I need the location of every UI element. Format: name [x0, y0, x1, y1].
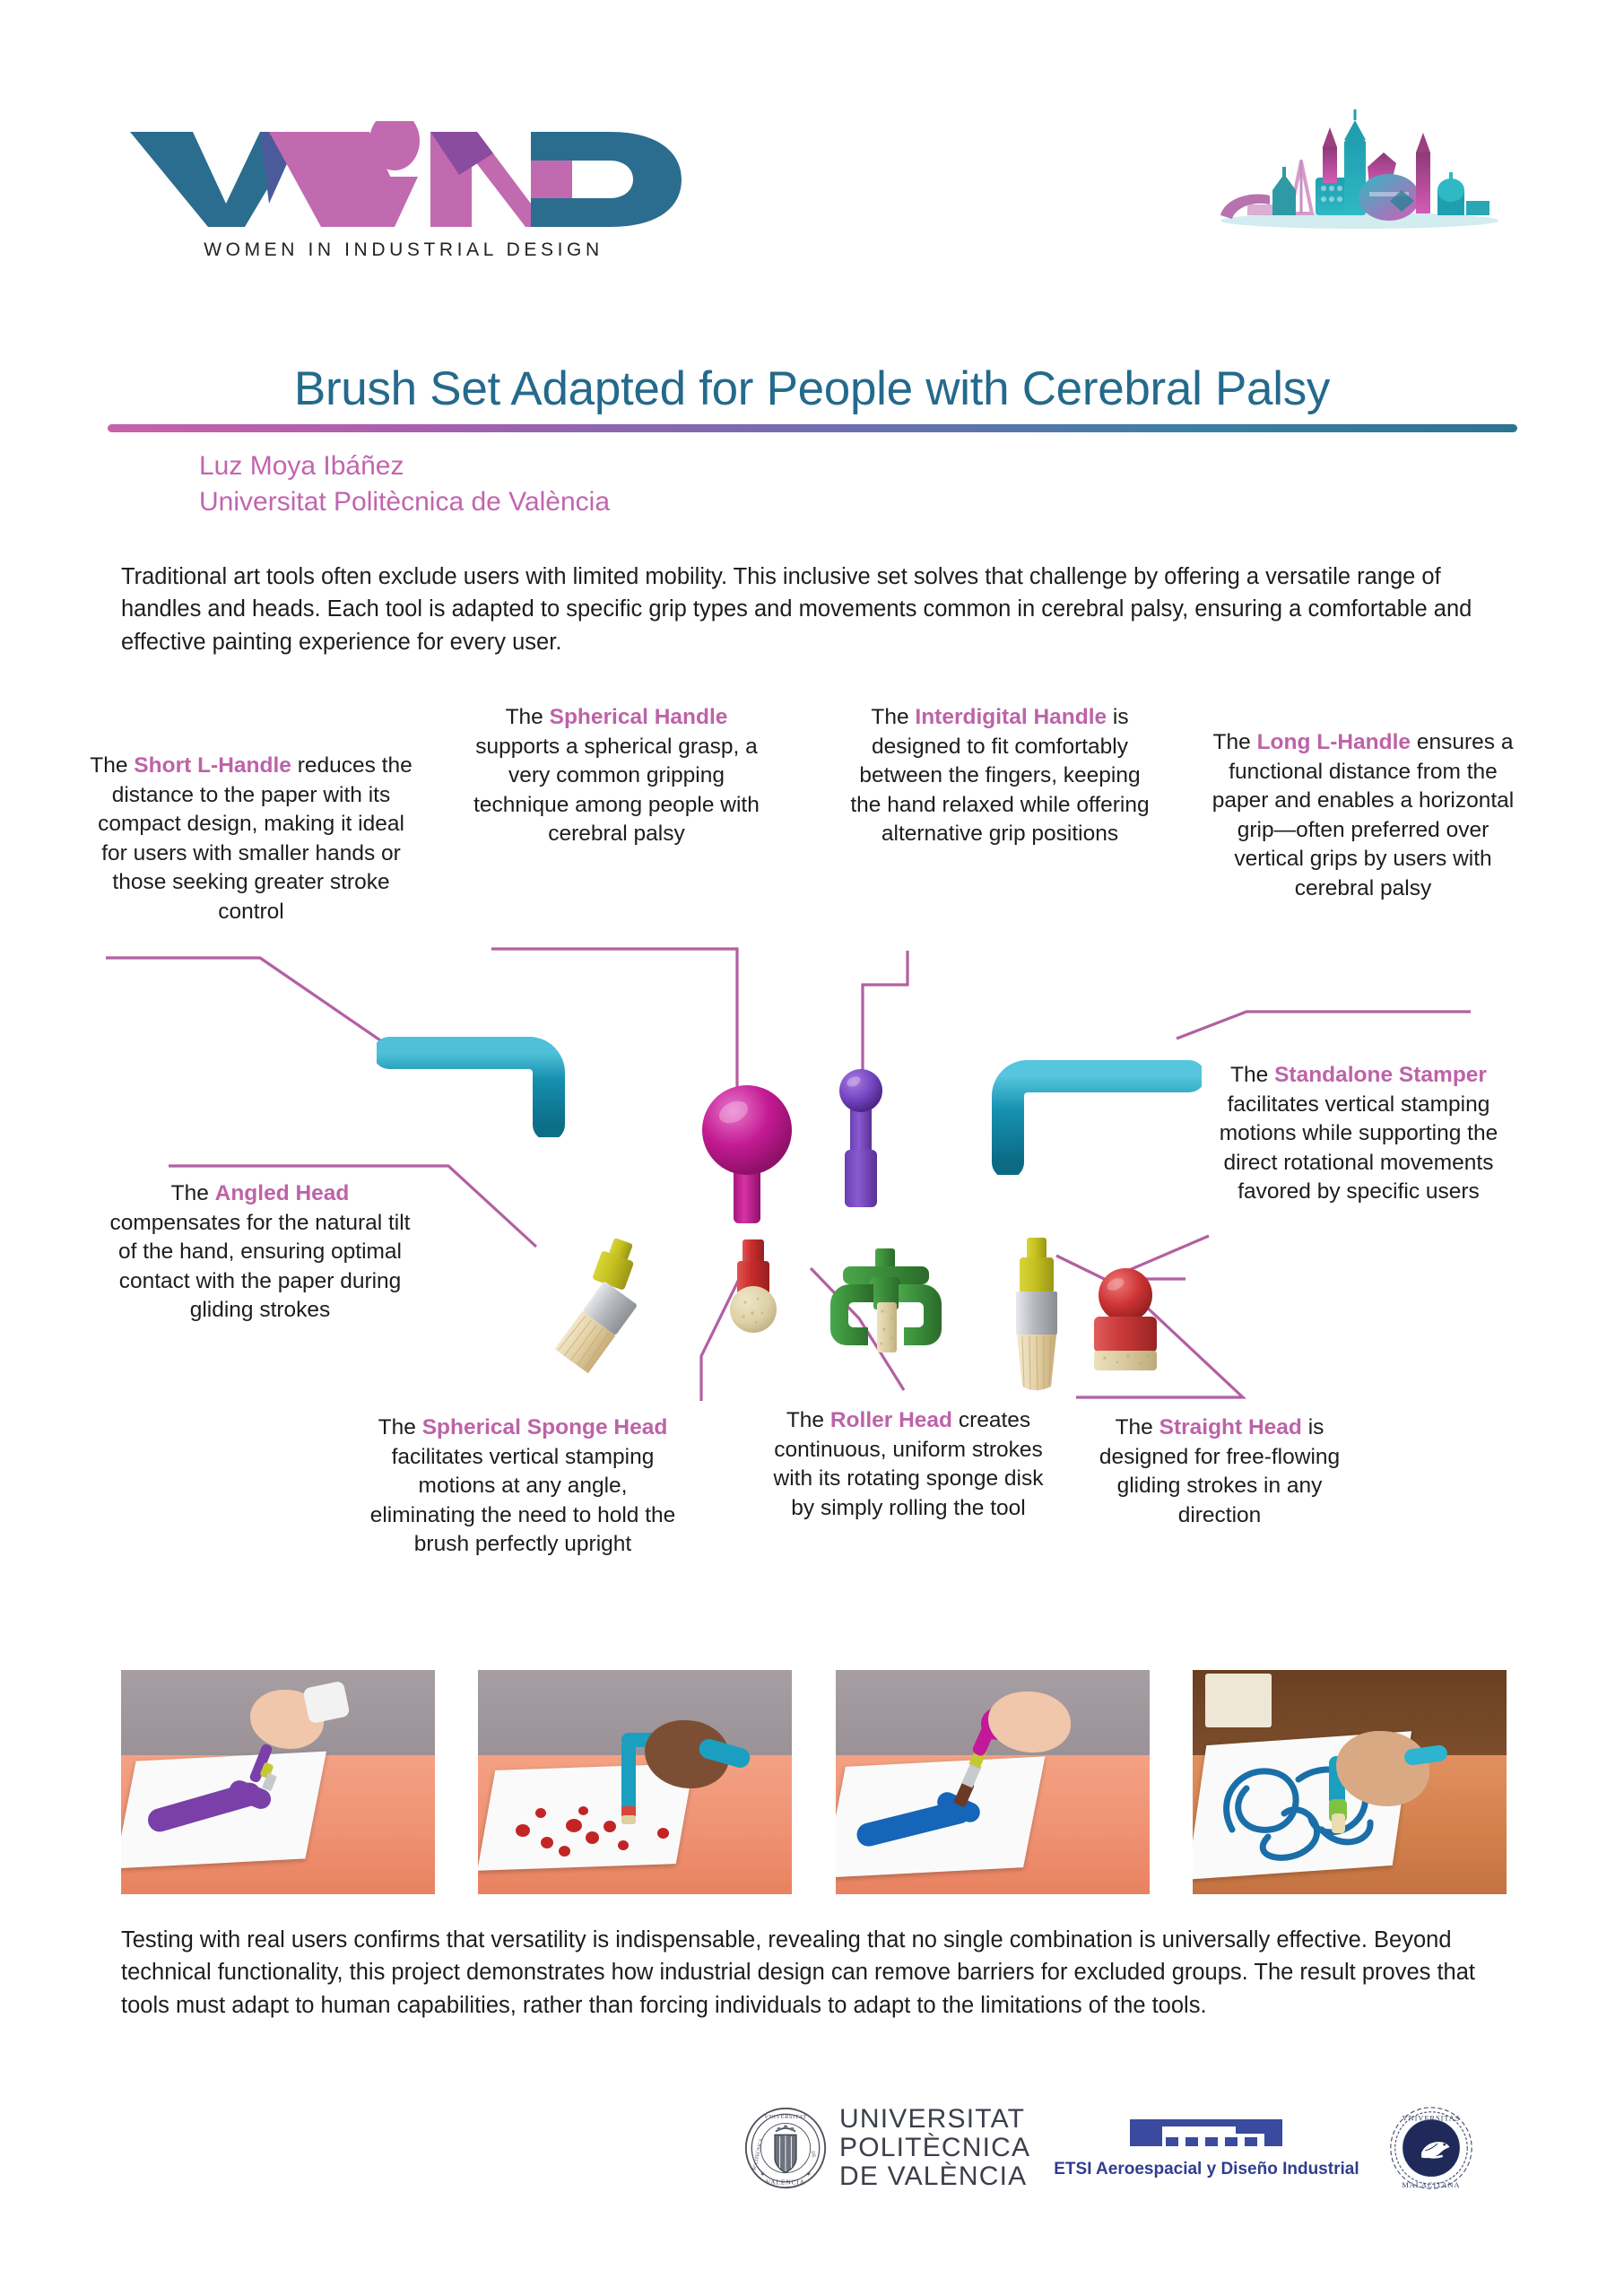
photo-tool-sponge	[621, 1815, 636, 1824]
caption-lead: The	[1230, 1063, 1274, 1087]
upv-line-2: POLITÈCNICA	[839, 2134, 1030, 2162]
figure-area: The Short L-Handle reduces the distance …	[0, 691, 1624, 1641]
caption-roller-head: The Roller Head creates continuous, unif…	[769, 1406, 1047, 1523]
intro-paragraph: Traditional art tools often exclude user…	[121, 561, 1507, 658]
svg-text:VNIVERSITAS: VNIVERSITAS	[1402, 2115, 1460, 2123]
wind-tagline: WOMEN IN INDUSTRIAL DESIGN	[126, 239, 682, 261]
caption-term: Angled Head	[215, 1181, 350, 1205]
caption-term: Spherical Handle	[550, 705, 728, 729]
caption-lead: The	[90, 753, 134, 778]
photo-blue-stroke	[836, 1670, 1150, 1894]
svg-text:DE: DE	[810, 2151, 817, 2159]
etsi-building-icon	[1130, 2118, 1282, 2155]
etsi-logo: ETSI Aeroespacial y Diseño Industrial	[1054, 2118, 1359, 2179]
spherical-handle-render	[698, 1083, 796, 1227]
caption-standalone-stamper: The Standalone Stamper facilitates verti…	[1193, 1061, 1524, 1207]
wind-wordmark-icon	[126, 121, 682, 229]
caption-term: Short L-Handle	[134, 753, 291, 778]
caption-spherical-sponge-head: The Spherical Sponge Head facilitates ve…	[366, 1413, 680, 1560]
caption-lead: The	[506, 705, 550, 729]
footer-logos: VNIVERSITAT VALENCIA POLITECNICA DE ✶ ✶ …	[744, 2072, 1524, 2224]
roller-head-render	[823, 1245, 949, 1370]
caption-rest: reduces the distance to the paper with i…	[98, 753, 413, 924]
caption-rest: supports a spherical grasp, a very commo…	[473, 735, 760, 847]
caption-term: Long L-Handle	[1257, 730, 1411, 754]
caption-straight-head: The Straight Head is designed for free-f…	[1081, 1413, 1359, 1530]
conclusion-paragraph: Testing with real users confirms that ve…	[121, 1924, 1515, 2022]
page-title: Brush Set Adapted for People with Cerebr…	[0, 363, 1624, 415]
caption-lead: The	[786, 1408, 830, 1432]
long-l-handle-render	[968, 1049, 1202, 1175]
standalone-stamper-render	[1076, 1261, 1175, 1378]
caption-rest: compensates for the natural tilt of the …	[109, 1211, 410, 1323]
caption-spherical-handle: The Spherical Handle supports a spherica…	[462, 703, 771, 849]
photo-red-dots	[478, 1670, 792, 1894]
caption-lead: The	[171, 1181, 215, 1205]
spherical-sponge-head-render	[717, 1236, 789, 1352]
photo-tool-sponge	[1332, 1813, 1345, 1833]
universitas-malacitana-logo: VNIVERSITAS MALACITANA	[1383, 2100, 1480, 2196]
caption-rest: ensures a functional distance from the p…	[1212, 730, 1514, 900]
author-name: Luz Moya Ibáñez	[199, 448, 1624, 484]
caption-term: Roller Head	[830, 1408, 952, 1432]
caption-lead: The	[871, 705, 915, 729]
upv-seal-icon: VNIVERSITAT VALENCIA POLITECNICA DE ✶ ✶	[744, 2107, 827, 2189]
caption-term: Spherical Sponge Head	[422, 1415, 668, 1439]
svg-text:✶: ✶	[806, 2170, 812, 2178]
caption-rest: facilitates vertical stamping motions at…	[370, 1445, 676, 1557]
upv-wordmark: UNIVERSITAT POLITÈCNICA DE VALÈNCIA	[839, 2105, 1030, 2191]
caption-short-l-handle: The Short L-Handle reduces the distance …	[90, 752, 413, 926]
angled-head-render	[534, 1236, 669, 1388]
photo-purple-stroke	[121, 1670, 435, 1894]
caption-term: Straight Head	[1159, 1415, 1302, 1439]
poster-header: WOMEN IN INDUSTRIAL DESIGN	[0, 0, 1624, 224]
interdigital-handle-render	[830, 1067, 895, 1211]
wind-logo: WOMEN IN INDUSTRIAL DESIGN	[126, 121, 682, 261]
author-affiliation: Universitat Politècnica de València	[199, 484, 1624, 520]
straight-head-render	[997, 1236, 1078, 1393]
caption-lead: The	[1116, 1415, 1159, 1439]
etsi-label: ETSI Aeroespacial y Diseño Industrial	[1054, 2160, 1359, 2179]
caption-lead: The	[1213, 730, 1257, 754]
upv-line-3: DE VALÈNCIA	[839, 2162, 1030, 2191]
caption-term: Interdigital Handle	[915, 705, 1107, 729]
caption-term: Standalone Stamper	[1274, 1063, 1487, 1087]
svg-text:MALACITANA: MALACITANA	[1402, 2181, 1460, 2189]
photo-strip	[121, 1670, 1507, 1894]
title-divider	[108, 424, 1517, 432]
caption-rest: facilitates vertical stamping motions wh…	[1220, 1092, 1498, 1205]
svg-text:✶: ✶	[760, 2170, 765, 2178]
photo-window	[1205, 1674, 1272, 1727]
photo-tool-handle	[621, 1738, 636, 1813]
upv-line-1: UNIVERSITAT	[839, 2105, 1030, 2134]
svg-text:POLITECNICA: POLITECNICA	[752, 2138, 764, 2171]
caption-angled-head: The Angled Head compensates for the natu…	[108, 1179, 413, 1326]
caption-lead: The	[378, 1415, 422, 1439]
upv-logo: VNIVERSITAT VALENCIA POLITECNICA DE ✶ ✶ …	[744, 2105, 1030, 2191]
svg-text:VNIVERSITAT: VNIVERSITAT	[764, 2114, 806, 2120]
short-l-handle-render	[377, 1021, 592, 1137]
photo-blue-loops	[1193, 1670, 1507, 1894]
caption-interdigital-handle: The Interdigital Handle is designed to f…	[843, 703, 1157, 849]
svg-text:VALENCIA: VALENCIA	[766, 2178, 805, 2186]
title-block: Brush Set Adapted for People with Cerebr…	[0, 363, 1624, 520]
city-skyline-icon	[1211, 108, 1507, 229]
caption-long-l-handle: The Long L-Handle ensures a functional d…	[1206, 728, 1520, 903]
